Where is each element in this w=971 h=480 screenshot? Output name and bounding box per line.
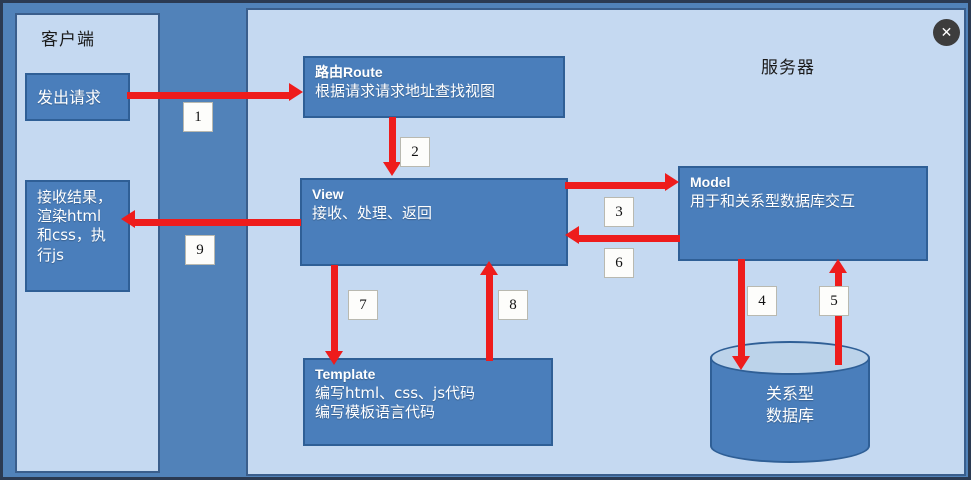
step-chip-8: 8: [498, 290, 528, 320]
box-template[interactable]: Template 编写html、css、js代码 编写模板语言代码: [303, 358, 553, 446]
box-template-line-3: 编写模板语言代码: [315, 403, 543, 422]
box-view-title: View: [312, 186, 558, 204]
step-chip-7: 7: [348, 290, 378, 320]
client-panel-title: 客户端: [41, 25, 95, 50]
box-receive-line-1: 接收结果，: [37, 188, 120, 207]
step-chip-4: 4: [747, 286, 777, 316]
step-chip-9: 9: [185, 235, 215, 265]
box-receive-result[interactable]: 接收结果， 渲染html 和css，执 行js: [25, 180, 130, 292]
diagram-canvas: 客户端 发出请求 接收结果， 渲染html 和css，执 行js 服务器 ✕ 路…: [0, 0, 971, 480]
server-panel-title: 服务器: [761, 53, 815, 78]
box-model[interactable]: Model 用于和关系型数据库交互: [678, 166, 928, 261]
box-receive-line-2: 渲染html: [37, 207, 120, 226]
box-route-title: 路由Route: [315, 64, 555, 82]
step-chip-6: 6: [604, 248, 634, 278]
box-send-request[interactable]: 发出请求: [25, 73, 130, 121]
box-view-desc: 接收、处理、返回: [312, 204, 558, 223]
outer-frame: 客户端 发出请求 接收结果， 渲染html 和css，执 行js 服务器 ✕ 路…: [0, 0, 971, 480]
step-chip-5: 5: [819, 286, 849, 316]
database-line-1: 关系型: [710, 383, 870, 405]
box-route-desc: 根据请求请求地址查找视图: [315, 82, 555, 101]
close-icon[interactable]: ✕: [933, 19, 960, 46]
box-receive-line-4: 行js: [37, 246, 120, 265]
box-send-request-label: 发出请求: [37, 88, 101, 108]
box-model-desc: 用于和关系型数据库交互: [690, 192, 918, 211]
database-label: 关系型 数据库: [710, 383, 870, 426]
box-template-title: Template: [315, 366, 543, 384]
box-model-title: Model: [690, 174, 918, 192]
step-chip-2: 2: [400, 137, 430, 167]
database-line-2: 数据库: [710, 405, 870, 427]
step-chip-3: 3: [604, 197, 634, 227]
box-route[interactable]: 路由Route 根据请求请求地址查找视图: [303, 56, 565, 118]
box-template-line-2: 编写html、css、js代码: [315, 384, 543, 403]
step-chip-1: 1: [183, 102, 213, 132]
box-receive-line-3: 和css，执: [37, 226, 120, 245]
box-view[interactable]: View 接收、处理、返回: [300, 178, 568, 266]
